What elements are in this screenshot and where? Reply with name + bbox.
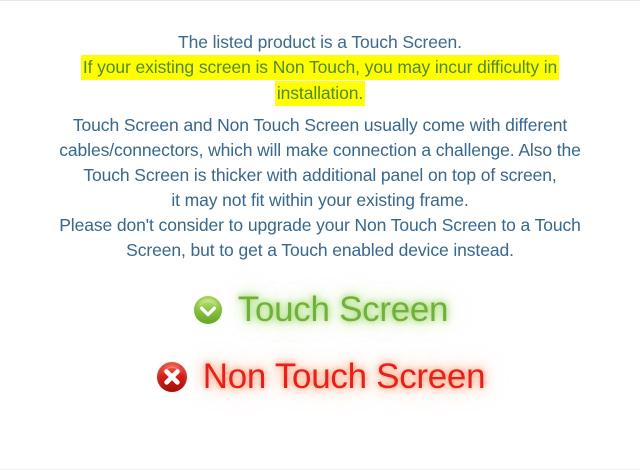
body-line: Please don't consider to upgrade your No…: [0, 213, 640, 238]
green-check-circle-icon: [192, 294, 224, 326]
red-x-circle-icon: [155, 360, 189, 394]
body-line: it may not fit within your existing fram…: [0, 188, 640, 213]
body-paragraph: Touch Screen and Non Touch Screen usuall…: [0, 113, 640, 263]
highlighted-line-2: installation.: [0, 81, 640, 107]
highlighted-line-1: If your existing screen is Non Touch, yo…: [0, 55, 640, 81]
touch-screen-label: Touch Screen: [238, 288, 448, 332]
touch-screen-notice: The listed product is a Touch Screen. If…: [0, 30, 640, 263]
body-line: Screen, but to get a Touch enabled devic…: [0, 238, 640, 263]
non-touch-screen-label: Non Touch Screen: [203, 355, 486, 399]
body-line: Touch Screen is thicker with additional …: [0, 163, 640, 188]
body-line: Touch Screen and Non Touch Screen usuall…: [0, 113, 640, 138]
top-edge-line: [0, 0, 640, 1]
non-touch-screen-badge-row: Non Touch Screen: [0, 355, 640, 399]
touch-screen-badge-row: Touch Screen: [0, 288, 640, 332]
intro-line: The listed product is a Touch Screen.: [0, 30, 640, 55]
highlight-text-1: If your existing screen is Non Touch, yo…: [81, 55, 559, 80]
highlight-text-2: installation.: [275, 81, 365, 106]
body-line: cables/connectors, which will make conne…: [0, 138, 640, 163]
